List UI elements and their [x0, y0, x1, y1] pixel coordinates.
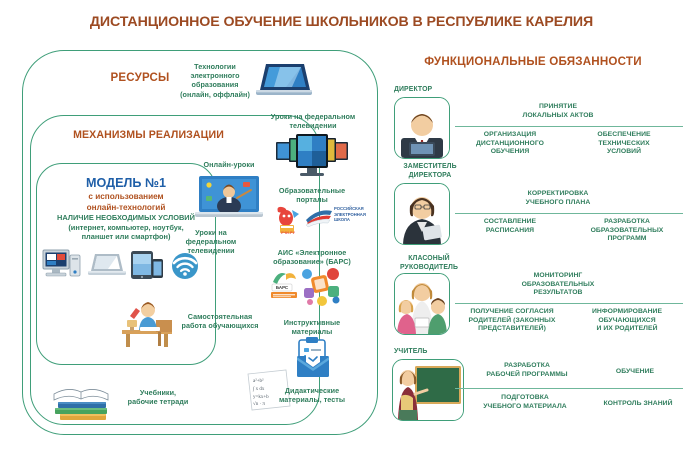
online-lesson-illustration-icon — [193, 172, 265, 224]
deputy-right-line-3: ПРОГРАММ — [572, 235, 682, 244]
tv-left-line-1: Уроки на — [178, 228, 244, 237]
director-left-line-1: ОРГАНИЗАЦИЯ — [455, 131, 565, 140]
avatar-director[interactable] — [394, 97, 450, 159]
bars-logo-text: БАРС — [272, 285, 292, 290]
duty-deputy-top: КОРРЕКТИРОВКА УЧЕБНОГО ПЛАНА — [468, 190, 648, 207]
model-subtitle-line-2: онлайн-технологий — [40, 203, 212, 214]
teacher-left-line-1: ПОДГОТОВКА — [462, 394, 588, 403]
tablet-phone-icon — [130, 250, 164, 280]
tv-mid-line-2: телевидении — [258, 121, 368, 130]
ais-line-1: АИС «Электронное — [254, 248, 370, 257]
portals-line-1: Образовательные — [260, 186, 364, 195]
class-teacher-top-line-3: РЕЗУЛЬТАТОВ — [468, 289, 648, 298]
envelope-icon — [296, 352, 330, 378]
class-teacher-right-line-3: И ИХ РОДИТЕЛЕЙ — [574, 325, 680, 334]
etech-line-4: (онлайн, оффлайн) — [178, 90, 252, 99]
resh-logo-icon — [304, 206, 334, 230]
class-teacher-top-line-1: МОНИТОРИНГ — [468, 272, 648, 281]
selfwork-line-2: работа обучающихся — [180, 321, 260, 330]
class-teacher-left-line-3: ПРЕДСТАВИТЕЛЕЙ) — [452, 325, 572, 334]
infographic-page: ДИСТАНЦИОННОЕ ОБУЧЕНИЕ ШКОЛЬНИКОВ В РЕСП… — [0, 0, 683, 452]
model-conditions-line-1: НАЛИЧИЕ НЕОБХОДИМЫХ УСЛОВИЙ — [32, 213, 220, 223]
resh-logo-text: РОССИЙСКАЯ ЭЛЕКТРОННАЯ ШКОЛА — [334, 206, 380, 223]
class-teacher-left-line-1: ПОЛУЧЕНИЕ СОГЛАСИЯ — [452, 308, 572, 317]
duty-deputy-left: СОСТАВЛЕНИЕ РАСПИСАНИЯ — [455, 218, 565, 235]
teacher-top-line-1: РАЗРАБОТКА — [468, 362, 586, 371]
avatar-class-teacher[interactable] — [394, 273, 450, 335]
model-subtitle-line-1: с использованием — [40, 192, 212, 203]
avatar-deputy[interactable] — [394, 183, 450, 245]
director-top-line-1: ПРИНЯТИЕ — [468, 103, 648, 112]
student-desk-icon — [118, 296, 180, 348]
teacher-label-line-1: УЧИТЕЛЬ — [394, 348, 474, 357]
uchiru-logo-text: УЧИ.РУ — [272, 231, 304, 235]
didactic-caption: Дидактические материалы, тесты — [262, 386, 362, 404]
model-title: МОДЕЛЬ №1 — [36, 176, 216, 190]
etech-line-1: Технологии — [178, 62, 252, 71]
resh-line-3: ШКОЛА — [334, 217, 380, 223]
tv-lessons-mid-caption: Уроки на федеральном телевидении — [258, 112, 368, 130]
tv-screens-icon — [274, 132, 350, 188]
divider-director — [455, 126, 683, 127]
class-teacher-label-line-1: КЛАСОНЫЙ — [386, 255, 472, 264]
didactic-line-1: Дидактические — [262, 386, 362, 395]
books-stack-icon — [50, 378, 112, 422]
page-title: ДИСТАНЦИОННОЕ ОБУЧЕНИЕ ШКОЛЬНИКОВ В РЕСП… — [0, 14, 683, 30]
deputy-top-line-2: УЧЕБНОГО ПЛАНА — [468, 199, 648, 208]
online-lessons-caption: Онлайн-уроки — [192, 160, 266, 169]
deputy-right-line-2: ОБРАЗОВАТЕЛЬНЫХ — [572, 227, 682, 236]
wifi-icon — [168, 252, 202, 280]
desktop-computer-icon — [42, 248, 82, 282]
instructive-line-1: Инструктивные — [260, 318, 364, 327]
director-right-line-1: ОБЕСПЕЧЕНИЕ — [572, 131, 676, 140]
apps-cluster-icon — [300, 262, 344, 308]
duty-deputy-right: РАЗРАБОТКА ОБРАЗОВАТЕЛЬНЫХ ПРОГРАММ — [572, 218, 682, 244]
duty-class-teacher-top: МОНИТОРИНГ ОБРАЗОВАТЕЛЬНЫХ РЕЗУЛЬТАТОВ — [468, 272, 648, 298]
deputy-label-line-2: ДИРЕКТОРА — [389, 172, 471, 181]
deputy-left-line-2: РАСПИСАНИЯ — [455, 227, 565, 236]
class-teacher-left-line-2: РОДИТЕЛЕЙ (ЗАКОННЫХ — [452, 317, 572, 326]
class-teacher-top-line-2: ОБРАЗОВАТЕЛЬНЫХ — [468, 281, 648, 290]
role-label-deputy: ЗАМЕСТИТЕЛЬ ДИРЕКТОРА — [389, 163, 471, 180]
etech-caption: Технологии электронного образования (онл… — [178, 62, 252, 99]
divider-teacher — [455, 388, 683, 389]
duty-teacher-top-left: РАЗРАБОТКА РАБОЧЕЙ ПРОГРАММЫ — [468, 362, 586, 379]
director-right-line-3: УСЛОВИЙ — [572, 148, 676, 157]
didactic-line-2: материалы, тесты — [262, 395, 362, 404]
etech-line-2: электронного — [178, 71, 252, 80]
duty-class-teacher-right: ИНФОРМИРОВАНИЕ ОБУЧАЮЩИХСЯ И ИХ РОДИТЕЛЕ… — [574, 308, 680, 334]
class-teacher-right-line-2: ОБУЧАЮЩИХСЯ — [574, 317, 680, 326]
bars-logo-icon — [268, 266, 304, 302]
books-caption: Учебники, рабочие тетради — [118, 388, 198, 406]
director-label-line-1: ДИРЕКТОР — [394, 86, 474, 95]
avatar-teacher[interactable] — [392, 359, 464, 421]
director-left-line-3: ОБУЧЕНИЯ — [455, 148, 565, 157]
deputy-left-line-1: СОСТАВЛЕНИЕ — [455, 218, 565, 227]
duty-director-top: ПРИНЯТИЕ ЛОКАЛЬНЫХ АКТОВ — [468, 103, 648, 120]
tv-left-line-3: телевидении — [178, 246, 244, 255]
mechanisms-header: МЕХАНИЗМЫ РЕАЛИЗАЦИИ — [36, 129, 261, 141]
functional-duties-header: ФУНКЦИОНАЛЬНЫЕ ОБЯЗАННОСТИ — [393, 55, 673, 68]
duty-class-teacher-left: ПОЛУЧЕНИЕ СОГЛАСИЯ РОДИТЕЛЕЙ (ЗАКОННЫХ П… — [452, 308, 572, 334]
class-teacher-right-line-1: ИНФОРМИРОВАНИЕ — [574, 308, 680, 317]
duty-director-left: ОРГАНИЗАЦИЯ ДИСТАНЦИОННОГО ОБУЧЕНИЯ — [455, 131, 565, 157]
duty-director-right: ОБЕСПЕЧЕНИЕ ТЕХНИЧЕСКИХ УСЛОВИЙ — [572, 131, 676, 157]
role-label-director: ДИРЕКТОР — [394, 86, 474, 95]
divider-deputy — [455, 213, 683, 214]
teacher-left-line-2: УЧЕБНОГО МАТЕРИАЛА — [462, 403, 588, 412]
laptop-small-icon — [88, 252, 126, 280]
books-line-2: рабочие тетради — [118, 397, 198, 406]
class-teacher-label-line-2: РУКОВОДИТЕЛЬ — [386, 264, 472, 273]
deputy-top-line-1: КОРРЕКТИРОВКА — [468, 190, 648, 199]
tv-lessons-left-caption: Уроки на федеральном телевидении — [178, 228, 244, 256]
portals-caption: Образовательные порталы — [260, 186, 364, 204]
selfwork-line-1: Самостоятельная — [180, 312, 260, 321]
tv-left-line-2: федеральном — [178, 237, 244, 246]
role-label-teacher: УЧИТЕЛЬ — [394, 348, 474, 357]
director-top-line-2: ЛОКАЛЬНЫХ АКТОВ — [468, 112, 648, 121]
duty-teacher-top-right: ОБУЧЕНИЕ — [592, 368, 678, 377]
laptop-icon — [256, 60, 312, 102]
director-left-line-2: ДИСТАНЦИОННОГО — [455, 140, 565, 149]
etech-line-3: образования — [178, 80, 252, 89]
duty-teacher-left: ПОДГОТОВКА УЧЕБНОГО МАТЕРИАЛА — [462, 394, 588, 411]
svg-text:a²+b²: a²+b² — [253, 378, 264, 384]
model-subtitle: с использованием онлайн-технологий — [40, 192, 212, 213]
duty-teacher-right: КОНТРОЛЬ ЗНАНИЙ — [592, 400, 683, 409]
instructive-caption: Инструктивные материалы — [260, 318, 364, 336]
divider-class-teacher — [455, 303, 683, 304]
deputy-label-line-1: ЗАМЕСТИТЕЛЬ — [389, 163, 471, 172]
role-label-class-teacher: КЛАСОНЫЙ РУКОВОДИТЕЛЬ — [386, 255, 472, 272]
deputy-right-line-1: РАЗРАБОТКА — [572, 218, 682, 227]
books-line-1: Учебники, — [118, 388, 198, 397]
tv-mid-line-1: Уроки на федеральном — [258, 112, 368, 121]
director-right-line-2: ТЕХНИЧЕСКИХ — [572, 140, 676, 149]
selfwork-caption: Самостоятельная работа обучающихся — [180, 312, 260, 330]
teacher-top-line-2: РАБОЧЕЙ ПРОГРАММЫ — [468, 371, 586, 380]
